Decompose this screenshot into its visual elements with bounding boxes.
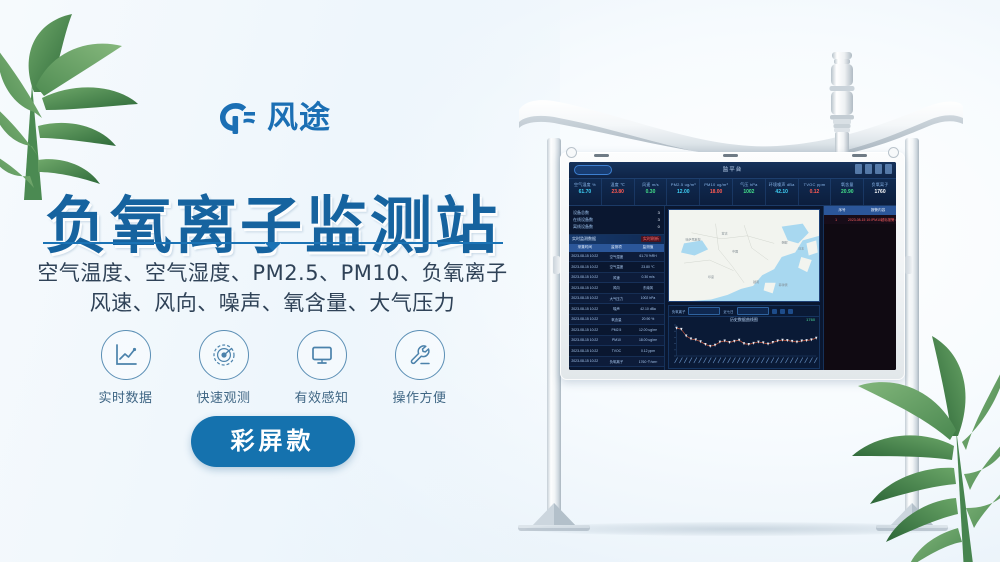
chart-select-1-label: 负氧离子 bbox=[672, 309, 686, 314]
chart-fullscreen-button[interactable] bbox=[788, 309, 793, 314]
device-stat-row: 设备总数3 bbox=[573, 209, 660, 216]
ground-shadow bbox=[525, 522, 955, 536]
dashboard-title: 监平台 bbox=[569, 165, 896, 173]
feature-item-easy-operation[interactable]: 操作方便 bbox=[389, 330, 451, 407]
brand-logo: 风途 bbox=[0, 100, 545, 136]
metric-label: PM2.5 ug/m³ bbox=[667, 182, 699, 188]
alarm-table-header: 序号报警内容 bbox=[824, 206, 896, 215]
dashboard-body: 设备总数3在线设备数3离线设备数0 实时监测数据 实时刷新 采集时间监测项监测值… bbox=[569, 206, 896, 370]
table-row[interactable]: 2023-08-15 10:22TVOC0.12 ppm bbox=[569, 346, 664, 357]
header-toolbar[interactable] bbox=[855, 164, 892, 174]
metric-value: 12.00 bbox=[667, 188, 699, 196]
toolbar-icon[interactable] bbox=[885, 164, 892, 174]
metric-label: 环境噪声 dBa bbox=[766, 182, 798, 188]
radar-signal-icon bbox=[199, 330, 249, 380]
metric-card: TVOC ppm0.12 bbox=[799, 179, 832, 205]
table-cell: 2023-08-15 10:22 bbox=[569, 317, 601, 321]
table-cell: 大气压力 bbox=[601, 296, 633, 301]
table-cell: 2023-08-15 10:22 bbox=[569, 359, 601, 363]
feature-item-fast-observation[interactable]: 快速观测 bbox=[193, 330, 255, 407]
table-cell: 空气温度 bbox=[601, 264, 633, 269]
map-and-chart-panel: 蒙古 中国 哈萨克斯坦 印度 日本 朝鲜 越南 菲律宾 bbox=[665, 206, 823, 370]
subtitle-block: 空气温度、空气湿度、PM2.5、PM10、负氧离子 风速、风向、噪声、氧含量、大… bbox=[0, 258, 545, 319]
alarm-column-header: 序号 bbox=[824, 208, 860, 213]
svg-text:菲律宾: 菲律宾 bbox=[778, 282, 787, 287]
table-cell: 风向 bbox=[601, 285, 633, 290]
table-cell: 0.12 ppm bbox=[632, 349, 664, 353]
table-cell: 2023-08-15 10:22 bbox=[569, 328, 601, 332]
device-stat-label: 离线设备数 bbox=[573, 223, 593, 230]
table-row[interactable]: 2023-08-15 10:22风向东南风 bbox=[569, 283, 664, 294]
table-cell: 2023-08-15 10:22 bbox=[569, 338, 601, 342]
device-stat-value: 3 bbox=[658, 216, 660, 223]
table-cell: 2023-08-15 10:22 bbox=[569, 265, 601, 269]
table-column-header: 监测项 bbox=[601, 245, 633, 250]
metric-card: 风速 m/s0.30 bbox=[635, 179, 668, 205]
table-cell: 2023-08-15 10:22 bbox=[569, 296, 601, 300]
metric-card: 环境噪声 dBa42.10 bbox=[766, 179, 799, 205]
table-cell: 0.30 m/s bbox=[632, 275, 664, 279]
alarm-row[interactable]: 12023-08-15 10:07PM10超标报警：上限值超过阈值 bbox=[824, 215, 896, 224]
chart-export-button[interactable] bbox=[780, 309, 785, 314]
side-bracket-right bbox=[905, 256, 912, 274]
alarm-rows[interactable]: 12023-08-15 10:07PM10超标报警：上限值超过阈值 bbox=[824, 215, 896, 224]
metric-value: 0.30 bbox=[635, 188, 667, 196]
device-stat-label: 在线设备数 bbox=[573, 216, 593, 223]
side-bracket-left bbox=[553, 256, 560, 274]
left-content-column: 风途 负氧离子监测站 空气温度、空气湿度、PM2.5、PM10、负氧离子 风速、… bbox=[0, 0, 545, 562]
history-line-chart bbox=[669, 322, 819, 368]
table-row[interactable]: 2023-08-15 10:22PM1018.00 ug/m³ bbox=[569, 336, 664, 347]
metric-value: 20.90 bbox=[831, 188, 863, 196]
metric-card: 温度 ℃23.80 bbox=[602, 179, 635, 205]
feature-list: 实时数据 快速观测 bbox=[0, 330, 545, 407]
chart-select-1[interactable] bbox=[688, 307, 720, 315]
alarm-empty-area bbox=[824, 224, 896, 370]
svg-text:哈萨克斯坦: 哈萨克斯坦 bbox=[685, 236, 700, 241]
device-panel: 设备总数3在线设备数3离线设备数0 实时监测数据 实时刷新 采集时间监测项监测值… bbox=[569, 206, 665, 370]
dashboard-screen[interactable]: 监平台 空气湿度 %61.70温度 ℃23.80风速 m/s0.30PM2.5 … bbox=[569, 162, 896, 370]
dashboard-header: 监平台 bbox=[569, 162, 896, 179]
table-cell: 42.10 dBa bbox=[632, 307, 664, 311]
table-row[interactable]: 2023-08-15 10:22空气温度23.80 ℃ bbox=[569, 262, 664, 273]
table-cell: 2023-08-15 10:22 bbox=[569, 349, 601, 353]
feature-item-effective-sensing[interactable]: 有效感知 bbox=[291, 330, 353, 407]
table-cell: 23.80 ℃ bbox=[632, 265, 664, 269]
metric-card: 负氧离子1760 bbox=[864, 179, 896, 205]
metric-value: 18.00 bbox=[700, 188, 732, 196]
device-stats: 设备总数3在线设备数3离线设备数0 bbox=[569, 206, 664, 235]
line-chart-icon bbox=[101, 330, 151, 380]
table-column-header: 监测值 bbox=[632, 245, 664, 250]
title-divider bbox=[0, 238, 545, 247]
metric-label: PM10 ug/m³ bbox=[700, 182, 732, 188]
table-cell: 2023-08-15 10:22 bbox=[569, 254, 601, 258]
metric-value: 0.12 bbox=[799, 188, 831, 196]
feature-item-realtime-data[interactable]: 实时数据 bbox=[95, 330, 157, 407]
ultrasonic-weather-sensor bbox=[825, 48, 859, 156]
table-cell: PM10 bbox=[601, 338, 633, 342]
metric-value: 23.80 bbox=[602, 188, 634, 196]
feature-label: 有效感知 bbox=[294, 391, 348, 406]
divider-line-right bbox=[281, 242, 503, 244]
table-cell: TVOC bbox=[601, 349, 633, 353]
device-stat-value: 0 bbox=[658, 223, 660, 230]
table-cell: 东南风 bbox=[632, 285, 664, 290]
subtitle-line-2: 风速、风向、噪声、氧含量、大气压力 bbox=[0, 288, 545, 318]
table-cell: 61.70 %RH bbox=[632, 254, 664, 258]
alarm-panel: 序号报警内容 12023-08-15 10:07PM10超标报警：上限值超过阈值 bbox=[823, 206, 896, 370]
table-row[interactable]: 2023-08-15 10:22空气湿度61.70 %RH bbox=[569, 252, 664, 263]
table-row[interactable]: 2023-08-15 10:22负氧离子1760 个/cm³ bbox=[569, 357, 664, 368]
device-stat-value: 3 bbox=[658, 209, 660, 216]
hanging-ring-left-icon bbox=[566, 147, 577, 158]
monitor-screen-icon bbox=[297, 330, 347, 380]
realtime-table-title: 实时监测数据 bbox=[572, 236, 596, 242]
alarm-cell: 1 bbox=[824, 218, 848, 222]
table-cell: 20.90 % bbox=[632, 317, 664, 321]
table-row[interactable]: 2023-08-15 10:22氧含量20.90 % bbox=[569, 315, 664, 326]
chart-controls[interactable]: 负氧离子 近七日 bbox=[669, 306, 819, 317]
metric-card: 氧含量20.90 bbox=[831, 179, 864, 205]
monitoring-station-kiosk: 监平台 空气湿度 %61.70温度 ℃23.80风速 m/s0.30PM2.5 … bbox=[505, 40, 975, 530]
table-body[interactable]: 2023-08-15 10:22空气湿度61.70 %RH2023-08-15 … bbox=[569, 252, 664, 370]
table-cell: 风速 bbox=[601, 275, 633, 280]
chart-select-2[interactable] bbox=[737, 307, 769, 315]
table-cell: 18.00 ug/m³ bbox=[632, 338, 664, 342]
toolbar-icon[interactable] bbox=[875, 164, 882, 174]
table-row[interactable]: 2023-08-15 10:22PM2.512.00 ug/m³ bbox=[569, 325, 664, 336]
table-cell: 2023-08-15 10:22 bbox=[569, 286, 601, 290]
table-cell: 1760 个/cm³ bbox=[632, 359, 664, 364]
feature-label: 实时数据 bbox=[98, 391, 152, 406]
metric-card: 空气湿度 %61.70 bbox=[569, 179, 602, 205]
support-post-left bbox=[547, 138, 561, 520]
table-cell: 12.00 ug/m³ bbox=[632, 328, 664, 332]
table-row[interactable]: 2023-08-15 10:22光照8750 Lux bbox=[569, 367, 664, 370]
table-cell: 空气湿度 bbox=[601, 254, 633, 259]
table-cell: 氧含量 bbox=[601, 317, 633, 322]
table-row[interactable]: 2023-08-15 10:22大气压力1002 hPa bbox=[569, 294, 664, 305]
metric-value: 1760 bbox=[864, 188, 896, 196]
display-enclosure: 监平台 空气湿度 %61.70温度 ℃23.80风速 m/s0.30PM2.5 … bbox=[560, 152, 905, 380]
device-stat-row: 离线设备数0 bbox=[573, 223, 660, 230]
metric-card: PM10 ug/m³18.00 bbox=[700, 179, 733, 205]
table-cell: 1002 hPa bbox=[632, 296, 664, 300]
alarm-column-header: 报警内容 bbox=[860, 208, 896, 213]
table-cell: PM2.5 bbox=[601, 328, 633, 332]
table-cell: 2023-08-15 10:22 bbox=[569, 275, 601, 279]
feature-label: 快速观测 bbox=[196, 391, 250, 406]
table-row[interactable]: 2023-08-15 10:22风速0.30 m/s bbox=[569, 273, 664, 284]
table-cell: 2023-08-15 10:22 bbox=[569, 307, 601, 311]
vent-slot bbox=[594, 154, 609, 157]
vent-slot bbox=[723, 154, 738, 157]
chart-select-2-label: 近七日 bbox=[723, 309, 733, 314]
realtime-table-header: 实时监测数据 实时刷新 bbox=[569, 235, 664, 244]
divider-line-left bbox=[43, 242, 265, 244]
wrench-icon bbox=[395, 330, 445, 380]
divider-triangle-icon bbox=[264, 242, 282, 251]
support-post-right bbox=[905, 138, 919, 520]
metric-value: 1002 bbox=[733, 188, 765, 196]
feature-label: 操作方便 bbox=[392, 391, 446, 406]
alarm-cell: PM10超标报警：上限值超过阈值 bbox=[872, 217, 896, 222]
hanging-ring-right-icon bbox=[888, 147, 899, 158]
svg-text:朝鲜: 朝鲜 bbox=[782, 239, 788, 244]
china-map[interactable]: 蒙古 中国 哈萨克斯坦 印度 日本 朝鲜 越南 菲律宾 bbox=[668, 209, 820, 302]
svg-text:印度: 印度 bbox=[708, 274, 714, 279]
table-column-header: 采集时间 bbox=[569, 245, 601, 250]
metric-card: 气压 hPa1002 bbox=[733, 179, 766, 205]
chart-view-toggle[interactable] bbox=[772, 309, 777, 314]
brand-name: 风途 bbox=[267, 103, 331, 134]
vent-slot bbox=[852, 154, 867, 157]
subtitle-line-1: 空气温度、空气湿度、PM2.5、PM10、负氧离子 bbox=[0, 258, 545, 288]
svg-text:中国: 中国 bbox=[732, 248, 738, 253]
alarm-cell: 2023-08-15 10:07 bbox=[848, 218, 872, 222]
device-stat-label: 设备总数 bbox=[573, 209, 589, 216]
fengtu-g-mark-icon bbox=[214, 100, 258, 136]
toolbar-icon[interactable] bbox=[855, 164, 862, 174]
metric-value: 61.70 bbox=[569, 188, 601, 196]
color-screen-model-button[interactable]: 彩屏款 bbox=[191, 416, 355, 467]
toolbar-icon[interactable] bbox=[865, 164, 872, 174]
promo-banner: 风途 负氧离子监测站 空气温度、空气湿度、PM2.5、PM10、负氧离子 风速、… bbox=[0, 0, 1000, 562]
table-cell: 负氧离子 bbox=[601, 359, 633, 364]
table-column-headers: 采集时间监测项监测值 bbox=[569, 244, 664, 252]
svg-text:蒙古: 蒙古 bbox=[721, 230, 727, 235]
history-chart-panel: 负氧离子 近七日 历史数据曲线图 1760 bbox=[668, 305, 820, 369]
realtime-refresh-badge: 实时刷新 bbox=[641, 236, 661, 242]
device-stat-row: 在线设备数3 bbox=[573, 216, 660, 223]
table-cell: 噪声 bbox=[601, 306, 633, 311]
metric-card: PM2.5 ug/m³12.00 bbox=[667, 179, 700, 205]
table-cell: 光照 bbox=[601, 369, 633, 370]
table-row[interactable]: 2023-08-15 10:22噪声42.10 dBa bbox=[569, 304, 664, 315]
metric-value: 42.10 bbox=[766, 188, 798, 196]
svg-text:日本: 日本 bbox=[798, 245, 804, 250]
svg-text:越南: 越南 bbox=[753, 279, 759, 284]
metric-strip: 空气湿度 %61.70温度 ℃23.80风速 m/s0.30PM2.5 ug/m… bbox=[569, 179, 896, 206]
